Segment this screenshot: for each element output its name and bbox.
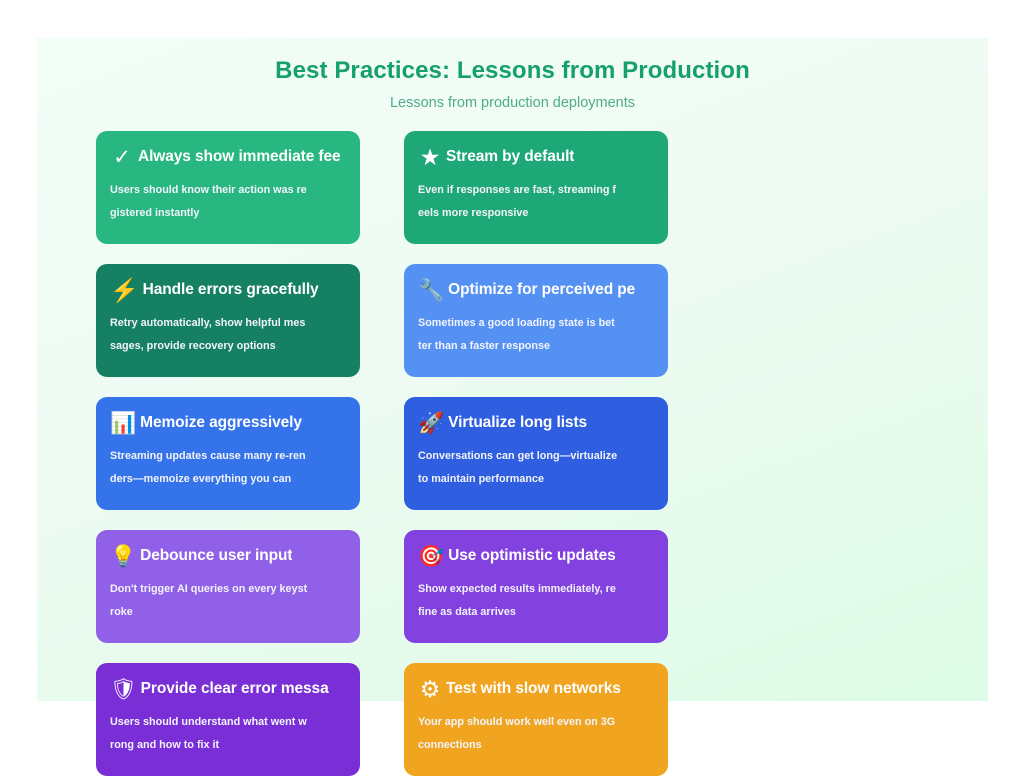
card-body-text: Users should know their action was regis… xyxy=(110,179,310,225)
card-body-text: Don't trigger AI queries on every keystr… xyxy=(110,578,310,624)
lightning-bolt-icon: ⚡ xyxy=(110,279,139,302)
lightbulb-icon: 💡 xyxy=(110,545,136,568)
card-title: Optimize for perceived pe xyxy=(448,279,635,301)
practice-card-grid: ✓Always show immediate feeUsers should k… xyxy=(96,131,968,776)
practice-card[interactable]: ⚡Handle errors gracefullyRetry automatic… xyxy=(96,264,360,377)
card-header: 📊Memoize aggressively xyxy=(110,410,346,436)
practice-card[interactable]: 💡Debounce user inputDon't trigger AI que… xyxy=(96,530,360,643)
practice-card[interactable]: 🔧Optimize for perceived peSometimes a go… xyxy=(404,264,668,377)
page-title: Best Practices: Lessons from Production xyxy=(37,56,988,86)
card-header: ★Stream by default xyxy=(418,144,654,170)
slide-header: Best Practices: Lessons from Production … xyxy=(37,38,988,112)
shield-icon: 🛡 xyxy=(110,678,137,701)
star-icon: ★ xyxy=(418,146,442,169)
card-header: ⚡Handle errors gracefully xyxy=(110,277,346,303)
target-icon: 🎯 xyxy=(418,545,444,568)
card-body-text: Even if responses are fast, streaming fe… xyxy=(418,179,618,225)
card-header: ⚙Test with slow networks xyxy=(418,676,654,702)
card-header: 🔧Optimize for perceived pe xyxy=(418,277,654,303)
practice-card[interactable]: 🛡Provide clear error messaUsers should u… xyxy=(96,663,360,776)
card-title: Memoize aggressively xyxy=(140,412,302,434)
practice-card[interactable]: ★Stream by defaultEven if responses are … xyxy=(404,131,668,244)
page-subtitle: Lessons from production deployments xyxy=(37,94,988,112)
practice-card[interactable]: 🎯Use optimistic updatesShow expected res… xyxy=(404,530,668,643)
card-body-text: Show expected results immediately, refin… xyxy=(418,578,618,624)
card-header: 🛡Provide clear error messa xyxy=(110,676,346,702)
card-title: Debounce user input xyxy=(140,545,292,567)
practice-card[interactable]: 🚀Virtualize long listsConversations can … xyxy=(404,397,668,510)
card-title: Provide clear error messa xyxy=(141,678,329,700)
card-body-text: Conversations can get long—virtualize to… xyxy=(418,445,618,491)
bar-chart-icon: 📊 xyxy=(110,412,136,435)
card-title: Virtualize long lists xyxy=(448,412,587,434)
card-title: Use optimistic updates xyxy=(448,545,615,567)
card-header: ✓Always show immediate fee xyxy=(110,144,346,170)
card-body-text: Sometimes a good loading state is better… xyxy=(418,312,618,358)
card-body-text: Retry automatically, show helpful messag… xyxy=(110,312,310,358)
card-header: 💡Debounce user input xyxy=(110,543,346,569)
wrench-icon: 🔧 xyxy=(418,279,444,302)
card-title: Test with slow networks xyxy=(446,678,621,700)
checkmark-icon: ✓ xyxy=(110,146,134,169)
card-header: 🎯Use optimistic updates xyxy=(418,543,654,569)
card-title: Always show immediate fee xyxy=(138,146,341,168)
gear-icon: ⚙ xyxy=(418,678,442,701)
practice-card[interactable]: ✓Always show immediate feeUsers should k… xyxy=(96,131,360,244)
card-body-text: Streaming updates cause many re-renders—… xyxy=(110,445,310,491)
card-body-text: Users should understand what went wrong … xyxy=(110,711,310,757)
card-body-text: Your app should work well even on 3G con… xyxy=(418,711,618,757)
card-title: Handle errors gracefully xyxy=(143,279,319,301)
card-title: Stream by default xyxy=(446,146,574,168)
practice-card[interactable]: ⚙Test with slow networksYour app should … xyxy=(404,663,668,776)
practice-card[interactable]: 📊Memoize aggressivelyStreaming updates c… xyxy=(96,397,360,510)
card-header: 🚀Virtualize long lists xyxy=(418,410,654,436)
slide-panel: Best Practices: Lessons from Production … xyxy=(37,38,988,701)
rocket-icon: 🚀 xyxy=(418,412,444,435)
